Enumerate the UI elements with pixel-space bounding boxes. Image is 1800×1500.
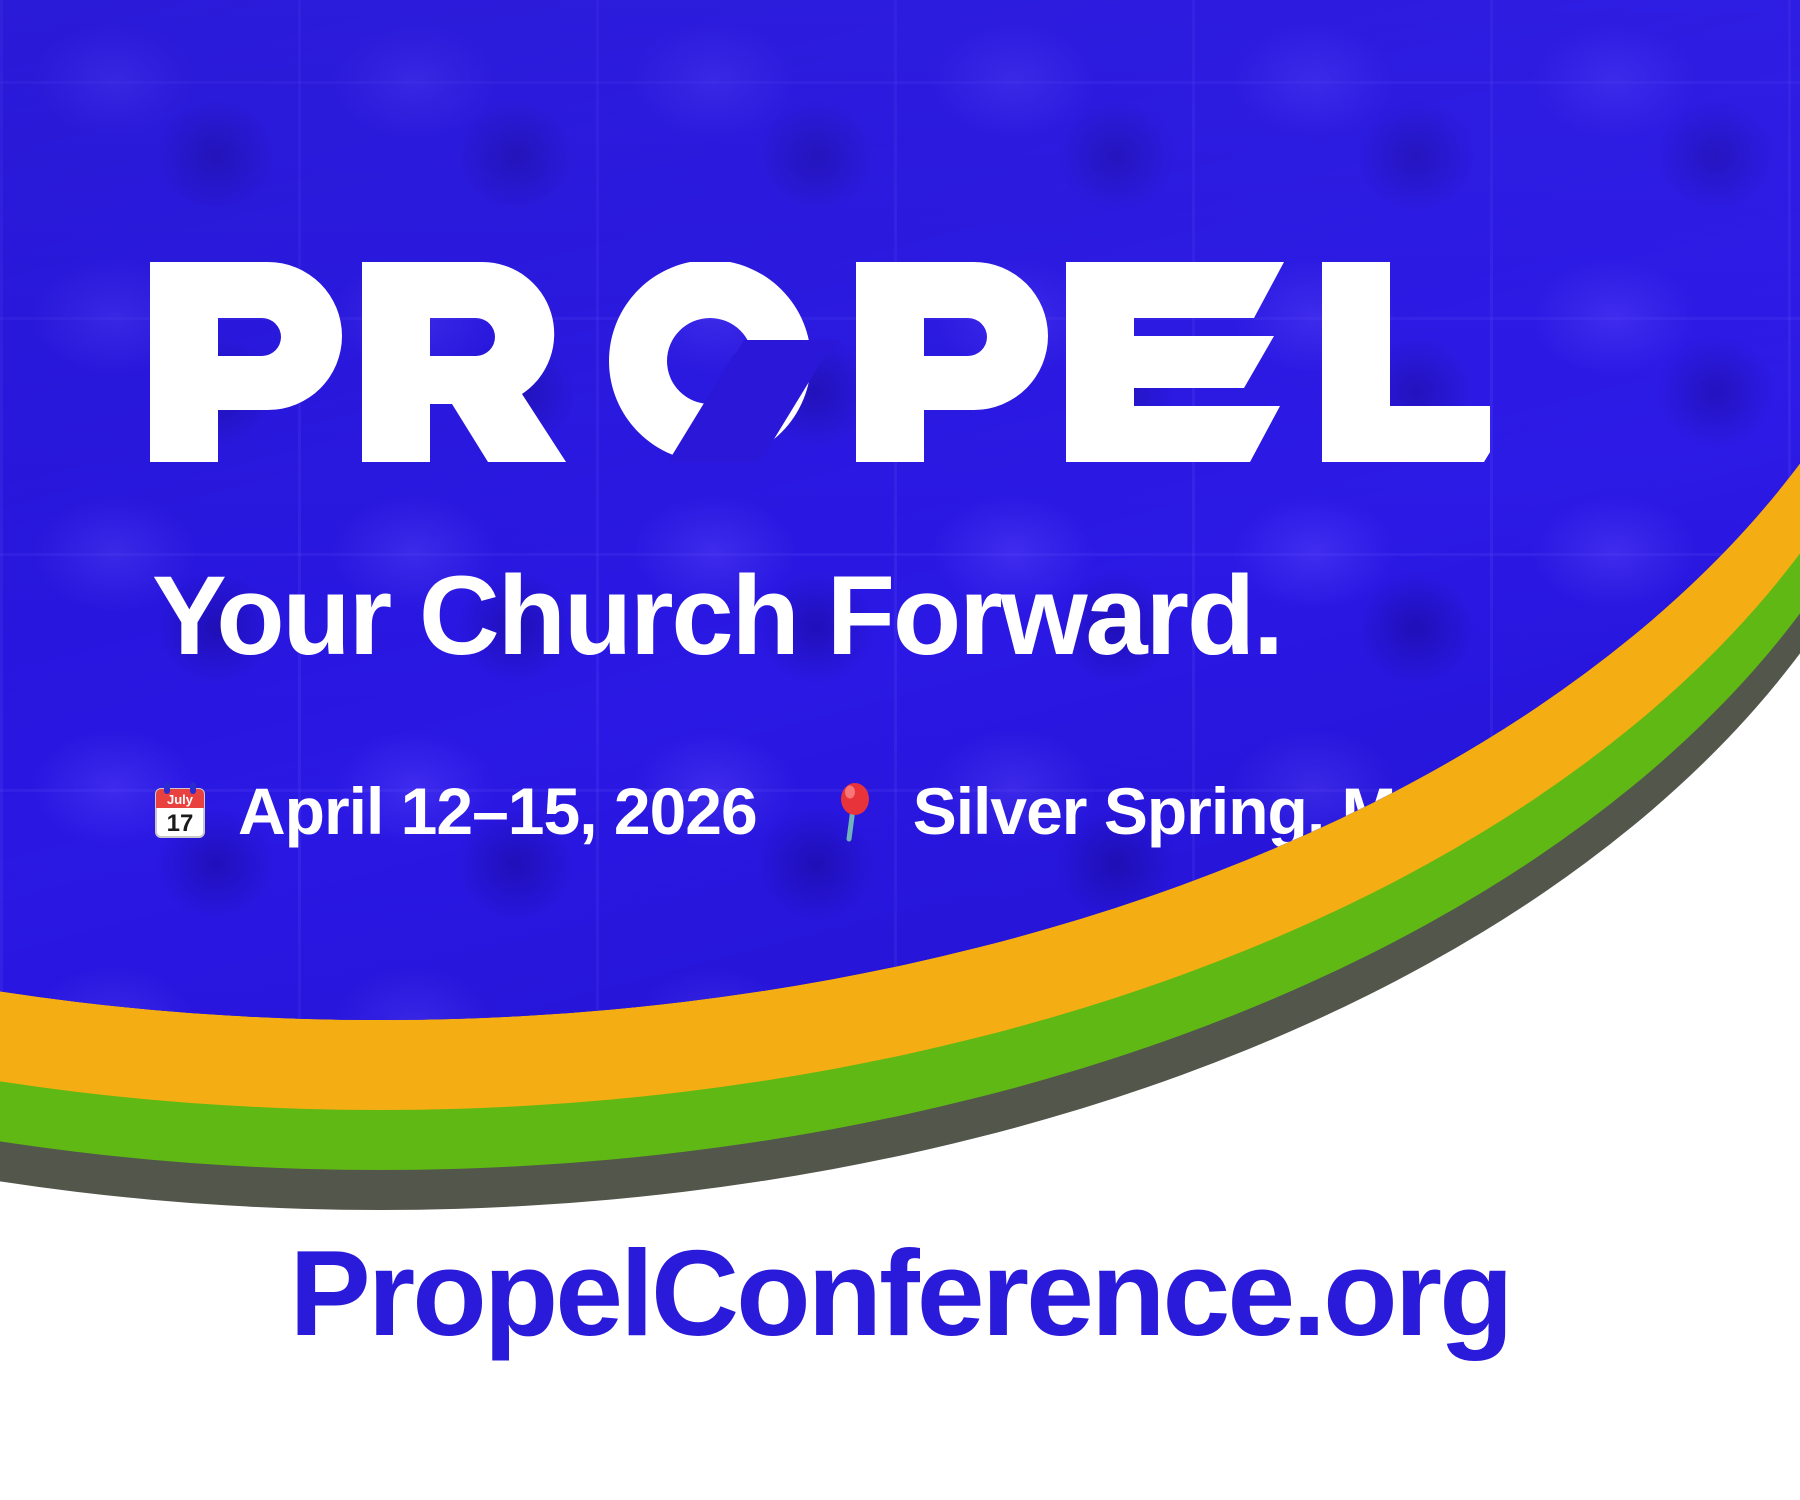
tagline: Your Church Forward. [152, 560, 1282, 672]
poster-content: Your Church Forward. July 17 [0, 0, 1800, 1020]
map-pin-icon [823, 779, 887, 843]
event-date-item: July 17 April 12–15, 2026 [148, 778, 757, 844]
website-url[interactable]: PropelConference.org [0, 1232, 1800, 1354]
propel-conference-promo-poster: Your Church Forward. July 17 [0, 0, 1800, 1500]
event-meta-row: July 17 April 12–15, 2026 [148, 778, 1442, 844]
hero-blue-dome: Your Church Forward. July 17 [0, 0, 1800, 1020]
calendar-icon: July 17 [148, 779, 212, 843]
svg-text:17: 17 [167, 810, 194, 837]
event-location-text: Silver Spring, MD [913, 778, 1442, 844]
svg-text:July: July [167, 792, 194, 807]
event-date-text: April 12–15, 2026 [238, 778, 757, 844]
event-location-item: Silver Spring, MD [823, 778, 1442, 844]
propel-wordmark-logo [150, 262, 1490, 462]
hero-inner-frame: Your Church Forward. July 17 [0, 0, 1800, 1020]
